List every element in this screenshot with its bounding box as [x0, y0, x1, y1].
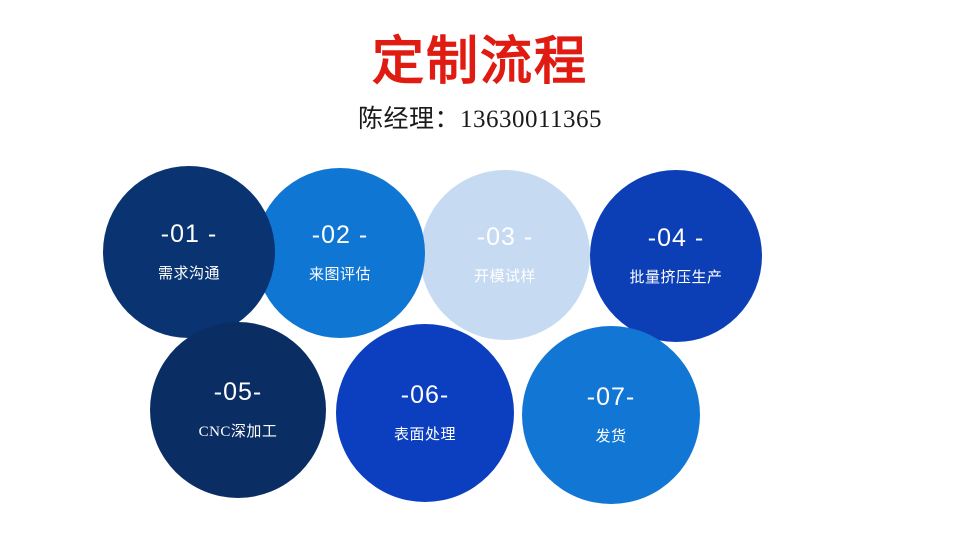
flow-step-number: -05- — [214, 380, 262, 405]
flow-step-04[interactable]: -04 - 批量挤压生产 — [590, 170, 762, 342]
flow-step-number: -02 - — [312, 223, 368, 248]
flow-step-number: -04 - — [648, 226, 704, 251]
flow-step-label: 来图评估 — [309, 268, 371, 283]
flow-step-03[interactable]: -03 - 开模试样 — [420, 170, 590, 340]
flow-step-number: -06- — [401, 383, 449, 408]
flow-step-label: 批量挤压生产 — [629, 271, 722, 286]
flow-step-number: -01 - — [161, 222, 217, 247]
flow-step-07[interactable]: -07- 发货 — [522, 326, 700, 504]
flow-step-05[interactable]: -05- CNC深加工 — [150, 322, 326, 498]
flow-step-02[interactable]: -02 - 来图评估 — [255, 168, 425, 338]
flow-step-06[interactable]: -06- 表面处理 — [336, 324, 514, 502]
flow-step-label: 发货 — [595, 430, 626, 445]
process-flow-diagram: -01 - 需求沟通 -02 - 来图评估 -03 - 开模试样 -04 - 批… — [0, 0, 960, 560]
flow-step-label: 表面处理 — [394, 428, 456, 443]
flow-step-01[interactable]: -01 - 需求沟通 — [103, 166, 275, 338]
flow-step-label: CNC深加工 — [199, 425, 278, 440]
flow-step-label: 开模试样 — [474, 270, 536, 285]
slide-canvas: 定制流程 陈经理：13630011365 -01 - 需求沟通 -02 - 来图… — [0, 0, 960, 560]
flow-step-number: -03 - — [477, 225, 533, 250]
flow-step-label: 需求沟通 — [158, 267, 220, 282]
flow-step-number: -07- — [587, 385, 635, 410]
